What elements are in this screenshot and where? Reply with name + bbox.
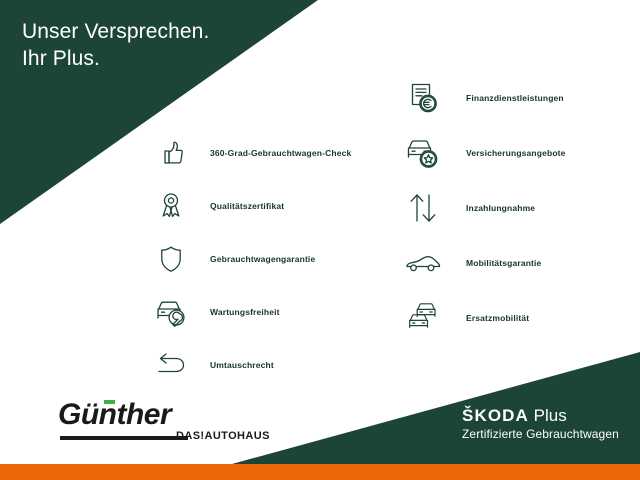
skoda-brand-text: ŠKODA [462,406,529,425]
feature-item: Finanzdienstleistungen [400,72,566,124]
feature-label: Umtauschrecht [210,360,274,370]
dealer-logo-rule [60,436,188,440]
feature-label: Gebrauchtwagengarantie [210,254,315,264]
skoda-logo-subtitle: Zertifizierte Gebrauchtwagen [462,427,619,442]
dealer-logo-umlaut-accent [104,400,115,404]
feature-label: Inzahlungnahme [466,203,535,213]
feature-item: 360-Grad-Gebrauchtwagen-Check [148,128,351,178]
promo-banner: Unser Versprechen. Ihr Plus. 360-Grad-Ge… [0,0,640,480]
orange-accent-bar [0,464,640,480]
arrows-up-down-icon [400,186,446,230]
skoda-plus-text: Plus [529,406,567,425]
dealer-logo: Günther DAS!AUTOHAUS [58,398,233,450]
feature-label: Mobilitätsgarantie [466,258,541,268]
feature-label: Qualitätszertifikat [210,201,284,211]
feature-label: Versicherungsangebote [466,148,566,158]
dealer-logo-tagline: DAS!AUTOHAUS [176,430,270,442]
feature-item: Ersatzmobilität [400,292,566,344]
feature-item: Umtauschrecht [148,340,351,390]
skoda-plus-logo: ŠKODA Plus Zertifizierte Gebrauchtwagen [462,406,619,442]
feature-item: Inzahlungnahme [400,182,566,234]
car-wrench-icon [148,290,194,334]
car-star-icon [400,131,446,175]
feature-label: Wartungsfreiheit [210,307,280,317]
feature-item: Mobilitätsgarantie [400,237,566,289]
two-cars-icon [400,296,446,340]
document-euro-icon [400,76,446,120]
feature-item: Qualitätszertifikat [148,181,351,231]
return-arrow-icon [148,343,194,387]
feature-item: Versicherungsangebote [400,127,566,179]
feature-list-right: Finanzdienstleistungen Versicherungsange… [400,72,566,347]
award-rosette-icon [148,184,194,228]
page-title: Unser Versprechen. Ihr Plus. [22,18,209,72]
skoda-logo-wordmark: ŠKODA Plus [462,406,619,426]
feature-label: Ersatzmobilität [466,313,529,323]
feature-item: Gebrauchtwagengarantie [148,234,351,284]
feature-list-left: 360-Grad-Gebrauchtwagen-Check Qualitätsz… [148,128,351,393]
feature-label: Finanzdienstleistungen [466,93,564,103]
car-side-icon [400,241,446,285]
feature-item: Wartungsfreiheit [148,287,351,337]
feature-label: 360-Grad-Gebrauchtwagen-Check [210,148,351,158]
shield-icon [148,237,194,281]
thumbs-up-icon [148,131,194,175]
